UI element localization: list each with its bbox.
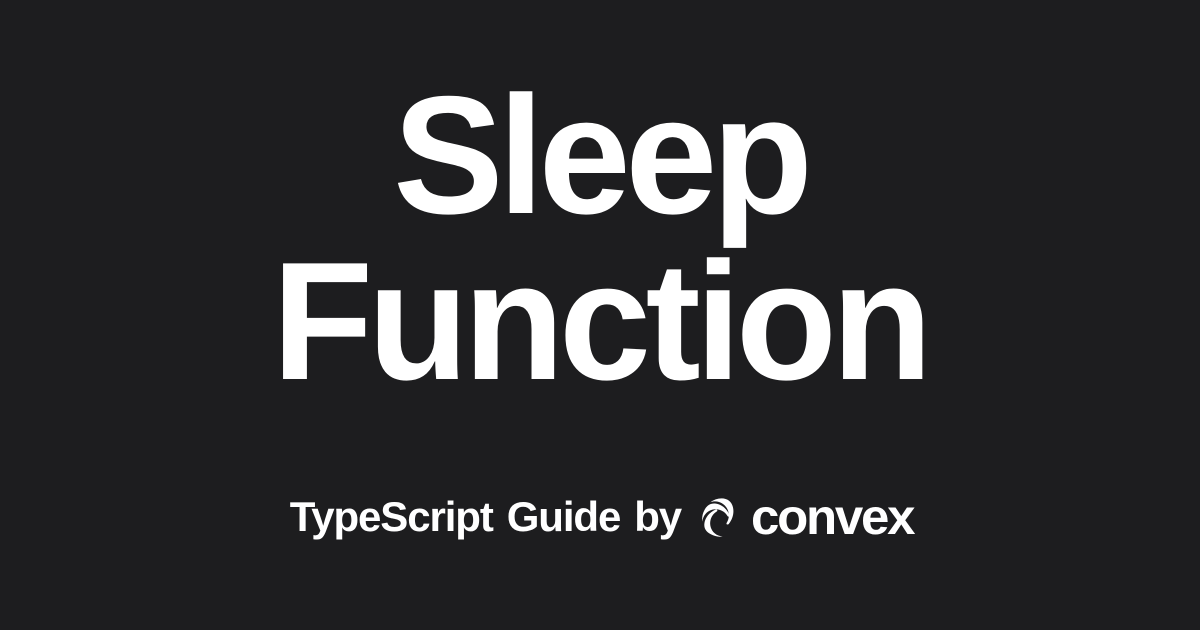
convex-wordmark: convex: [751, 492, 913, 542]
og-card: Sleep Function TypeScript Guide by conve…: [0, 0, 1200, 630]
convex-aperture-swirl-icon: [699, 495, 744, 540]
byline-connector: by: [634, 496, 681, 538]
byline-prefix: TypeScript: [290, 496, 493, 538]
page-title-line-1: Sleep: [393, 72, 807, 238]
page-title-line-2: Function: [272, 238, 927, 404]
brand-lockup: convex: [699, 492, 910, 542]
byline: TypeScript Guide by convex: [0, 492, 1200, 542]
byline-middle: Guide: [507, 496, 621, 538]
page-title: Sleep Function: [0, 72, 1200, 405]
